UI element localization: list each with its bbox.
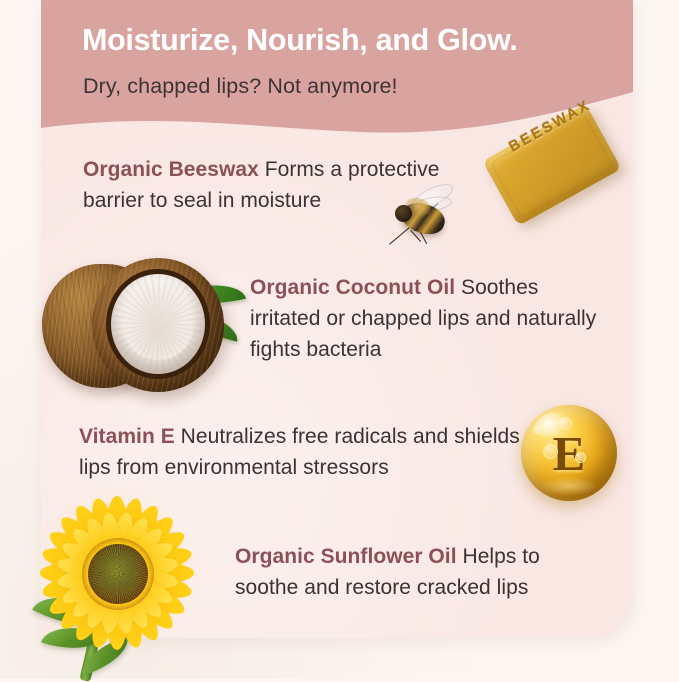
- ingredient-block-beeswax: Organic Beeswax Forms a protective barri…: [83, 154, 503, 216]
- coconut-flesh: [111, 274, 205, 374]
- vitamin-e-bubble-icon: [575, 452, 586, 463]
- coconut-illustration: [34, 252, 244, 402]
- ingredient-infographic: Moisturize, Nourish, and Glow. Dry, chap…: [0, 0, 679, 679]
- ingredient-block-sunflower-oil: Organic Sunflower Oil Helps to soothe an…: [235, 541, 590, 603]
- ingredient-name-beeswax: Organic Beeswax: [83, 158, 259, 181]
- ingredient-block-coconut-oil: Organic Coconut Oil Soothes irritated or…: [250, 272, 600, 365]
- sunflower-illustration: [16, 494, 228, 679]
- ingredient-name-sunflower-oil: Organic Sunflower Oil: [235, 545, 457, 568]
- vitamin-e-bubble-icon: [559, 417, 572, 430]
- ingredient-block-vitamin-e: Vitamin E Neutralizes free radicals and …: [79, 421, 529, 483]
- vitamin-e-bubble-icon: [533, 425, 542, 434]
- vitamin-e-bubble-icon: [543, 444, 558, 459]
- beeswax-bar-illustration: BEESWAX: [483, 114, 643, 264]
- ingredient-name-coconut-oil: Organic Coconut Oil: [250, 276, 455, 299]
- sunflower-disc: [88, 544, 148, 604]
- ingredient-name-vitamin-e: Vitamin E: [79, 425, 175, 448]
